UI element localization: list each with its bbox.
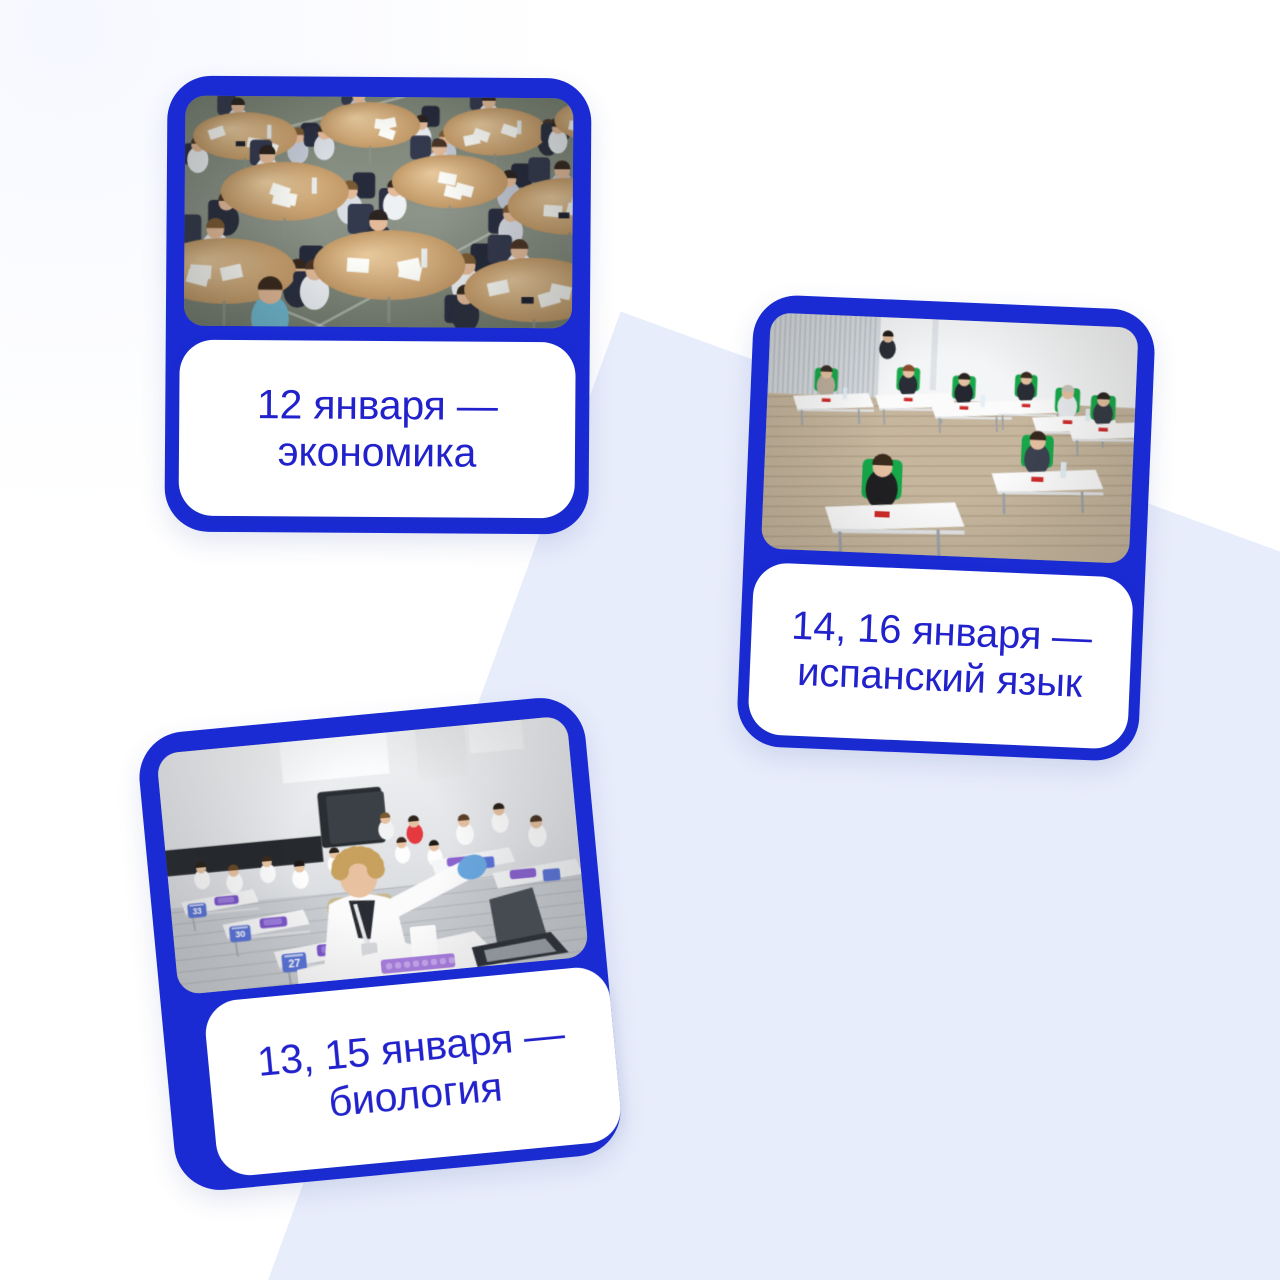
card-photo-biology: [156, 715, 589, 995]
card-label-text-spanish: 14, 16 января — испанский язык: [789, 604, 1093, 708]
card-photo-spanish: [761, 312, 1139, 563]
card-label-text-biology: 13, 15 января — биология: [255, 1010, 571, 1132]
photo-biology-laboratory: [156, 715, 589, 995]
card-photo-economics: [184, 96, 574, 329]
card-label-text-economics: 12 января — экономика: [256, 381, 497, 476]
card-label-panel-biology: 13, 15 января — биология: [203, 965, 624, 1178]
schedule-card-economics[interactable]: 12 января — экономика: [164, 76, 591, 535]
card-label-panel-spanish: 14, 16 января — испанский язык: [747, 562, 1134, 750]
photo-exam-hall-round-tables: [184, 96, 574, 329]
poster-canvas: 12 января — экономика 14, 16 января — ис…: [0, 0, 1280, 1280]
schedule-card-biology[interactable]: 13, 15 января — биология: [135, 694, 624, 1194]
photo-classroom-green-chairs: [761, 312, 1139, 563]
card-label-panel-economics: 12 января — экономика: [179, 340, 576, 519]
schedule-card-spanish[interactable]: 14, 16 января — испанский язык: [736, 294, 1157, 762]
